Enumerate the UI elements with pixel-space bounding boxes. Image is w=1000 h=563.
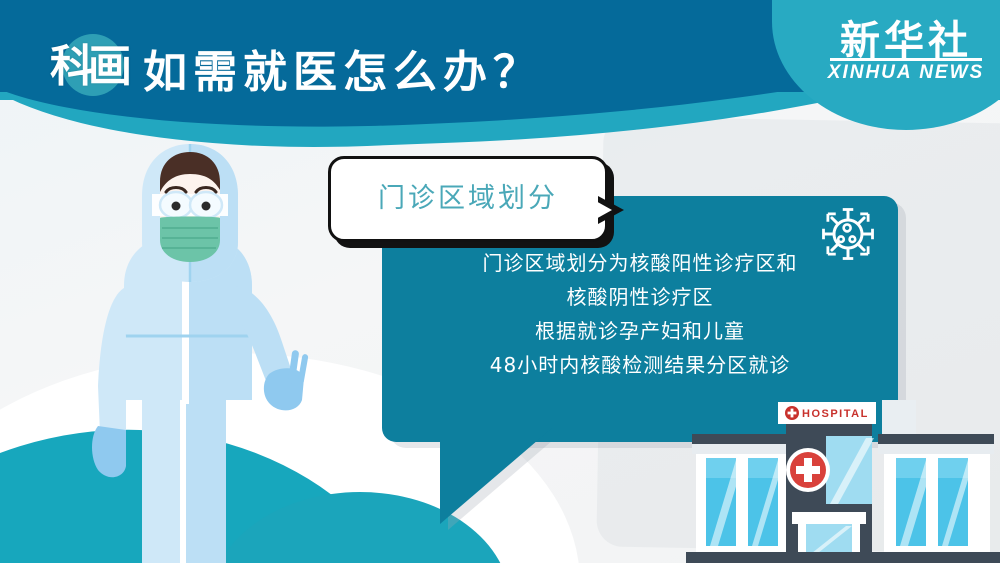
kehua-logo: 科画 <box>38 28 138 106</box>
panel-body-text: 门诊区域划分为核酸阳性诊疗区和 核酸阴性诊疗区 根据就诊孕产妇和儿童 48小时内… <box>382 246 898 382</box>
worker-leg-right <box>184 378 226 563</box>
hospital-entrance-post-left <box>798 524 806 553</box>
worker-face-mask <box>160 217 220 263</box>
bubble-title-text: 门诊区域划分 <box>328 156 608 242</box>
hospital-illustration <box>686 400 1000 563</box>
hospital-ground-bar <box>686 552 1000 563</box>
worker-leg-left <box>142 378 184 563</box>
worker-arm-left <box>98 288 126 434</box>
red-cross-icon <box>785 406 799 420</box>
infographic-canvas: 科画 如需就医怎么办？ 新华社 XINHUA NEWS <box>0 0 1000 563</box>
xinhua-brand-en: XINHUA NEWS <box>772 62 1000 84</box>
hospital-windows-right <box>896 454 974 550</box>
page-title: 如需就医怎么办？ <box>143 36 543 100</box>
virus-icon <box>820 206 876 262</box>
medical-worker-illustration <box>86 138 336 563</box>
hospital-windows-left <box>706 454 784 550</box>
hospital-tower-window <box>826 436 874 504</box>
hospital-entrance-post-right <box>852 524 860 553</box>
hospital-sign-label: HOSPITAL <box>802 408 869 420</box>
panel-line-2: 核酸阴性诊疗区 <box>382 280 898 314</box>
worker-eye-left <box>172 202 181 211</box>
panel-line-4: 48小时内核酸检测结果分区就诊 <box>382 348 898 382</box>
worker-glove-left <box>92 426 126 477</box>
hospital-cornice-right <box>878 434 994 444</box>
panel-tail <box>440 428 552 524</box>
kehua-logo-text: 科画 <box>38 28 138 106</box>
hospital-entrance-glass <box>798 524 860 553</box>
worker-leg-seam <box>180 388 186 563</box>
xinhua-brand-rule <box>830 58 982 61</box>
worker-eye-right <box>202 202 211 211</box>
hospital-canopy <box>792 512 866 524</box>
hospital-cross-emblem <box>786 448 830 492</box>
panel-line-3: 根据就诊孕产妇和儿童 <box>382 314 898 348</box>
